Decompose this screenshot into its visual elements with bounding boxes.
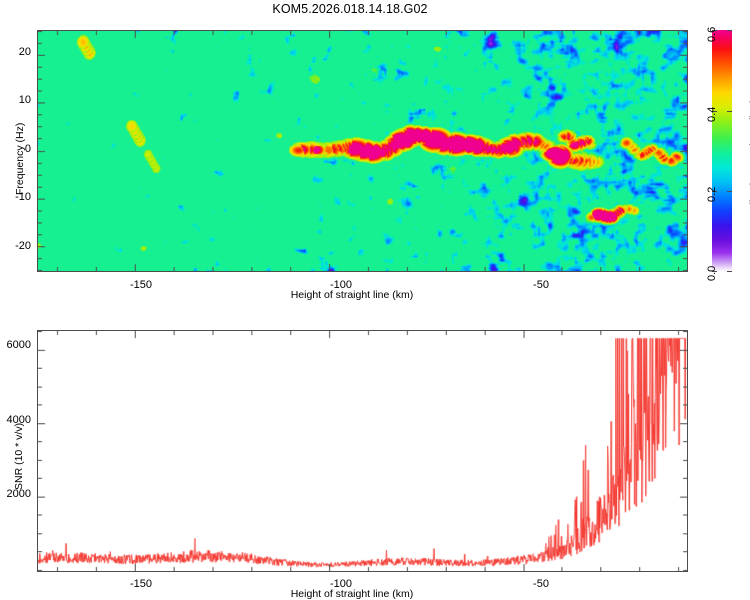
snr-ytick-6000: 6000 — [2, 339, 31, 351]
snr-line-plot — [38, 331, 687, 571]
colorbar — [712, 30, 732, 272]
figure-root: KOM5.2026.018.14.18.G02 20 10 0 -10 -20 … — [0, 0, 750, 600]
colorbar-gradient — [712, 30, 732, 272]
colorbar-tickmark — [727, 271, 732, 272]
colorbar-tick-0_0: 0.0 — [706, 266, 718, 281]
snr-yaxis-title: SNR (10 * v/v) — [13, 423, 25, 490]
spectro-xtick-neg150: -150 — [130, 279, 152, 291]
spectro-ytick-10: 10 — [6, 94, 31, 106]
spectrogram-image — [38, 31, 687, 271]
spectro-xaxis-title: Height of straight line (km) — [291, 289, 414, 301]
snr-xtick-neg150: -150 — [130, 578, 152, 590]
colorbar-tick-0_4: 0.4 — [706, 107, 718, 122]
snr-xtick-neg50: -50 — [533, 578, 549, 590]
figure-title: KOM5.2026.018.14.18.G02 — [0, 2, 700, 16]
spectrogram-panel — [37, 30, 688, 272]
colorbar-tickmark — [727, 191, 732, 192]
colorbar-tick-0_2: 0.2 — [706, 187, 718, 202]
colorbar-tick-0_6: 0.6 — [706, 27, 718, 42]
spectro-xtick-neg50: -50 — [533, 279, 549, 291]
spectro-yaxis-title: Frequency (Hz) — [14, 123, 26, 195]
snr-panel — [37, 330, 688, 572]
spectro-ytick-neg20: -20 — [6, 240, 31, 252]
colorbar-tickmark — [727, 30, 732, 31]
spectro-ytick-20: 20 — [6, 46, 31, 58]
snr-xaxis-title: Height of straight line (km) — [291, 588, 414, 600]
colorbar-tickmark — [727, 111, 732, 112]
